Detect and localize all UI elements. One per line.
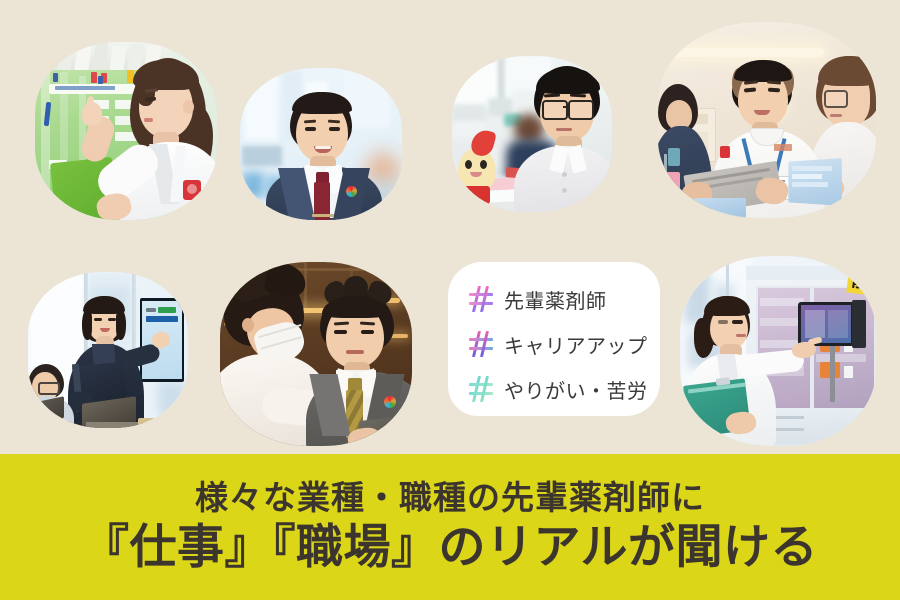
hashtag-label-0: 先輩薬剤師 xyxy=(504,285,607,314)
photo-businessman-suit xyxy=(240,68,402,220)
bottom-banner: 様々な業種・職種の先輩薬剤師に 『仕事』『職場』のリアルが聞ける xyxy=(0,454,900,600)
photo-office-man-glasses xyxy=(452,56,612,212)
banner-headline-line1: 様々な業種・職種の先輩薬剤師に xyxy=(195,479,705,517)
hash-icon xyxy=(470,331,492,357)
poster-canvas: 散 xyxy=(0,0,900,600)
photo-pharmacist-shelves xyxy=(35,42,217,220)
hashtag-item-0[interactable]: 先輩薬剤師 xyxy=(470,278,660,320)
photo-hospital-team xyxy=(658,22,876,218)
banner-headline-line2: 『仕事』『職場』のリアルが聞ける xyxy=(82,521,818,575)
hash-icon xyxy=(470,286,492,312)
machine-label-tag: 散 xyxy=(846,263,875,296)
photo-two-men-talking xyxy=(220,262,412,446)
hashtag-item-2[interactable]: やりがい・苦労 xyxy=(470,368,660,410)
photo-woman-presenting xyxy=(28,272,188,428)
hashtag-card: 先輩薬剤師 キャリアアップ やりがい・苦労 xyxy=(448,262,660,416)
machine-label-text: 散 xyxy=(846,263,875,296)
hash-icon xyxy=(470,376,492,402)
hashtag-label-2: やりがい・苦労 xyxy=(504,375,648,404)
hashtag-item-1[interactable]: キャリアアップ xyxy=(470,323,660,365)
photo-dispensing-machine: 散 xyxy=(680,256,876,446)
hashtag-label-1: キャリアアップ xyxy=(504,330,648,359)
